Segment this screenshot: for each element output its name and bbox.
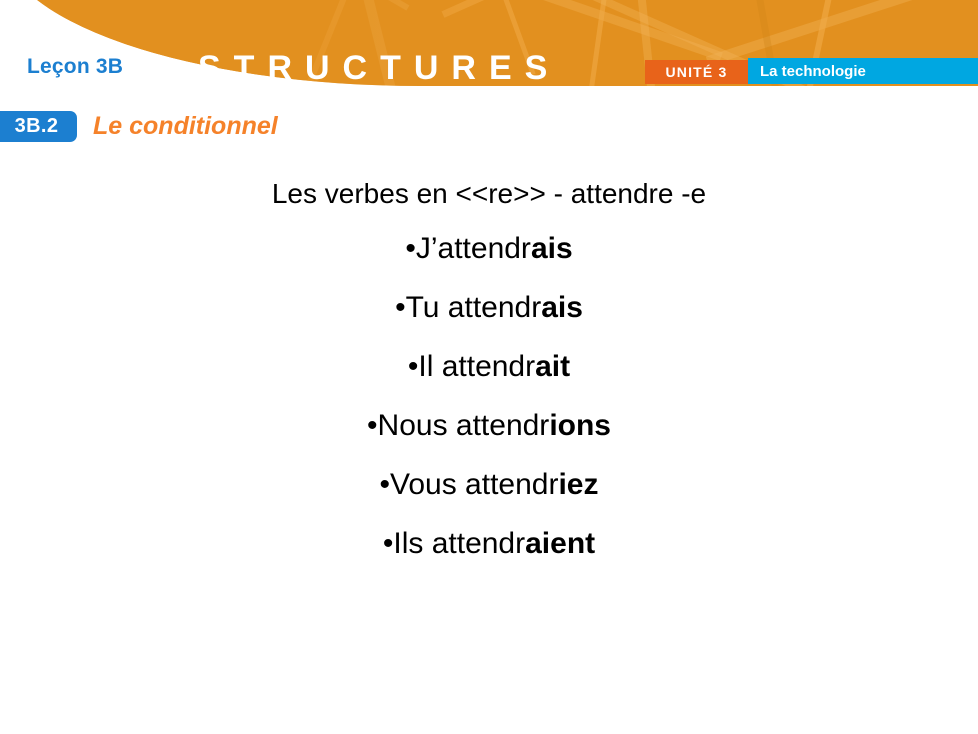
conjugation-line: •Tu attendrais [0, 293, 978, 323]
verb-ending: iez [558, 468, 598, 501]
section-title: Le conditionnel [93, 112, 278, 141]
header-banner: Leçon 3B STRUCTURES UNITÉ 3 La technolog… [0, 0, 978, 86]
lesson-label: Leçon 3B [27, 55, 123, 79]
bullet-icon: • [408, 350, 419, 383]
verb-stem: Nous attendr [378, 409, 550, 442]
conjugation-list: •J’attendrais•Tu attendrais•Il attendrai… [0, 234, 978, 559]
banner-title: STRUCTURES [198, 49, 560, 86]
verb-ending: ait [535, 350, 570, 383]
unite-theme-strip: La technologie [748, 58, 978, 84]
conjugation-line: •Ils attendraient [0, 529, 978, 559]
slide-body: Les verbes en <<re>> - attendre -e •J’at… [0, 180, 978, 559]
verb-stem: Il attendr [418, 350, 535, 383]
bullet-icon: • [383, 527, 394, 560]
conjugation-line: •Vous attendriez [0, 470, 978, 500]
verb-ending: ais [531, 232, 573, 265]
section-number-badge: 3B.2 [0, 111, 77, 142]
bullet-icon: • [367, 409, 378, 442]
bullet-icon: • [405, 232, 416, 265]
slide: Leçon 3B STRUCTURES UNITÉ 3 La technolog… [0, 0, 978, 734]
unite-tab: UNITÉ 3 [645, 60, 748, 84]
verb-ending: aient [525, 527, 595, 560]
verb-stem: Tu attendr [406, 291, 542, 324]
bullet-icon: • [379, 468, 390, 501]
body-title: Les verbes en <<re>> - attendre -e [0, 180, 978, 208]
conjugation-line: •Il attendrait [0, 352, 978, 382]
verb-stem: Vous attendr [390, 468, 558, 501]
conjugation-line: •J’attendrais [0, 234, 978, 264]
conjugation-line: •Nous attendrions [0, 411, 978, 441]
verb-stem: Ils attendr [393, 527, 525, 560]
verb-ending: ais [541, 291, 583, 324]
verb-stem: J’attendr [416, 232, 531, 265]
bullet-icon: • [395, 291, 406, 324]
verb-ending: ions [549, 409, 611, 442]
section-header: 3B.2 Le conditionnel [0, 110, 278, 142]
